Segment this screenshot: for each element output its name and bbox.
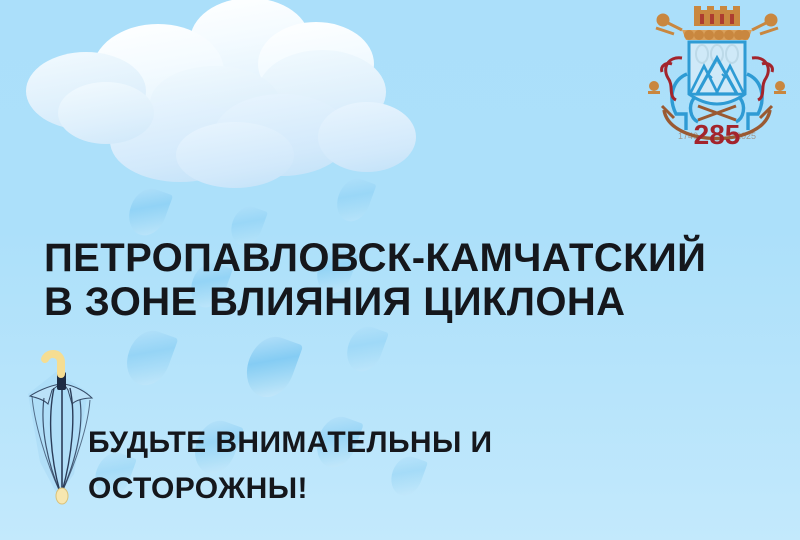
page-title: ПЕТРОПАВЛОВСК-КАМЧАТСКИЙ В ЗОНЕ ВЛИЯНИЯ … bbox=[44, 236, 774, 324]
subline-line-2: ОСТОРОЖНЫ! bbox=[88, 466, 728, 512]
anniversary-number: 285 bbox=[694, 119, 741, 150]
subline-line-1: БУДЬТЕ ВНИМАТЕЛЬНЫ И bbox=[88, 426, 492, 459]
headline-line-2: В ЗОНЕ ВЛИЯНИЯ ЦИКЛОНА bbox=[44, 280, 774, 324]
weather-warning-poster: ПЕТРОПАВЛОВСК-КАМЧАТСКИЙ В ЗОНЕ ВЛИЯНИЯ … bbox=[0, 0, 800, 540]
rain-cloud bbox=[0, 0, 420, 206]
safety-advice: БУДЬТЕ ВНИМАТЕЛЬНЫ И ОСТОРОЖНЫ! bbox=[88, 420, 728, 512]
raindrop bbox=[120, 325, 179, 392]
crown-icon bbox=[682, 6, 752, 40]
headline-line-1: ПЕТРОПАВЛОВСК-КАМЧАТСКИЙ bbox=[44, 236, 706, 280]
branch-ornament bbox=[698, 106, 736, 120]
shield-icon bbox=[689, 42, 745, 104]
raindrop bbox=[341, 322, 389, 377]
city-anniversary-emblem: 1740 2025 285 bbox=[642, 2, 792, 164]
raindrop bbox=[239, 330, 303, 404]
